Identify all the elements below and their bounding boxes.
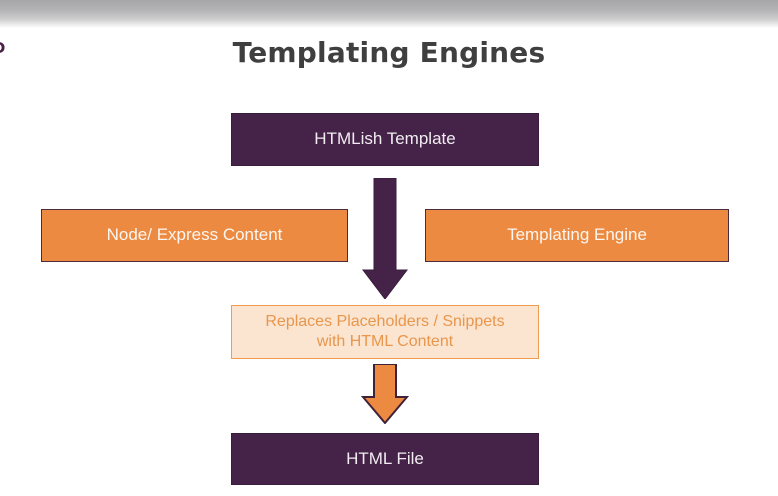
diagram-node-htmlish-template: HTMLish Template [231,113,539,166]
diagram-node-replaces-placeholders: Replaces Placeholders / Snippets with HT… [231,305,539,359]
diagram-node-templating-engine: Templating Engine [425,209,729,262]
slide-canvas: DE IND Templating Engines HTMLish Templa… [0,0,778,496]
arrow-down-orange-icon [361,364,409,424]
diagram-node-label: HTML File [346,449,424,470]
diagram-node-label-line1: Replaces Placeholders / Snippets [265,313,504,330]
arrow-down-purple-icon [361,178,409,299]
header-gradient-band [0,0,778,28]
diagram-node-label: Node/ Express Content [107,225,283,246]
diagram-node-label-line2: with HTML Content [317,333,453,350]
diagram-node-node-express-content: Node/ Express Content [41,209,348,262]
diagram-node-label: HTMLish Template [314,129,455,150]
diagram-node-label-wrapper: Replaces Placeholders / Snippets with HT… [265,312,504,351]
diagram-node-html-file: HTML File [231,433,539,485]
page-title: Templating Engines [0,36,778,69]
diagram-node-label: Templating Engine [507,225,647,246]
